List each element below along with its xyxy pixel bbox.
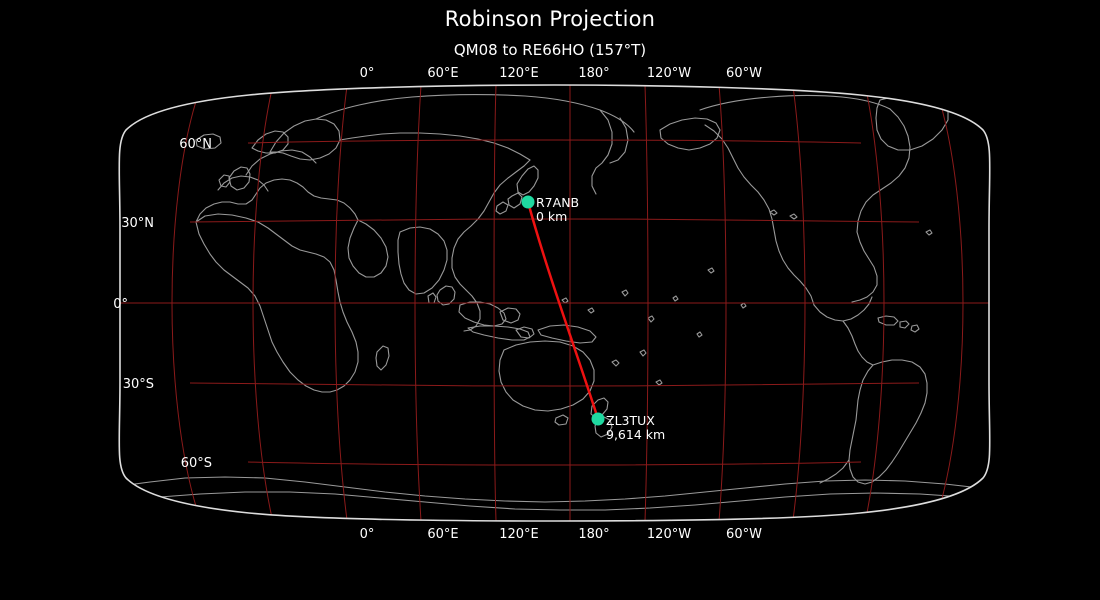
- station-callsign-r7anb: R7ANB: [536, 195, 579, 210]
- lon-label-bottom-3: 180°: [578, 527, 609, 542]
- lat-label-30n: 30°N: [121, 216, 154, 231]
- lon-label-top-0: 0°: [360, 66, 375, 81]
- station-distance-zl3tux: 9,614 km: [606, 427, 665, 442]
- lat-label-0: 0°: [113, 297, 128, 312]
- lat-label-30s: 30°S: [123, 377, 154, 392]
- lon-label-bottom-4: 120°W: [647, 527, 691, 542]
- lon-label-top-2: 120°E: [499, 66, 539, 81]
- lon-label-bottom-1: 60°E: [427, 527, 458, 542]
- station-callsign-zl3tux: ZL3TUX: [606, 413, 655, 428]
- lat-label-60s: 60°S: [181, 456, 212, 471]
- lon-label-top-1: 60°E: [427, 66, 458, 81]
- station-distance-r7anb: 0 km: [536, 209, 567, 224]
- longitude-labels-bottom: 0° 60°E 120°E 180° 120°W 60°W: [360, 527, 762, 542]
- lon-label-top-4: 120°W: [647, 66, 691, 81]
- lon-label-top-3: 180°: [578, 66, 609, 81]
- longitude-labels-top: 0° 60°E 120°E 180° 120°W 60°W: [360, 66, 762, 81]
- lon-label-bottom-0: 0°: [360, 527, 375, 542]
- lon-label-top-5: 60°W: [726, 66, 762, 81]
- robinson-map[interactable]: R7ANB 0 km ZL3TUX 9,614 km 0° 60°E 120°E…: [0, 0, 1100, 600]
- lat-label-60n: 60°N: [179, 137, 212, 152]
- map-figure: Robinson Projection QM08 to RE66HO (157°…: [0, 0, 1100, 600]
- lon-label-bottom-2: 120°E: [499, 527, 539, 542]
- lon-label-bottom-5: 60°W: [726, 527, 762, 542]
